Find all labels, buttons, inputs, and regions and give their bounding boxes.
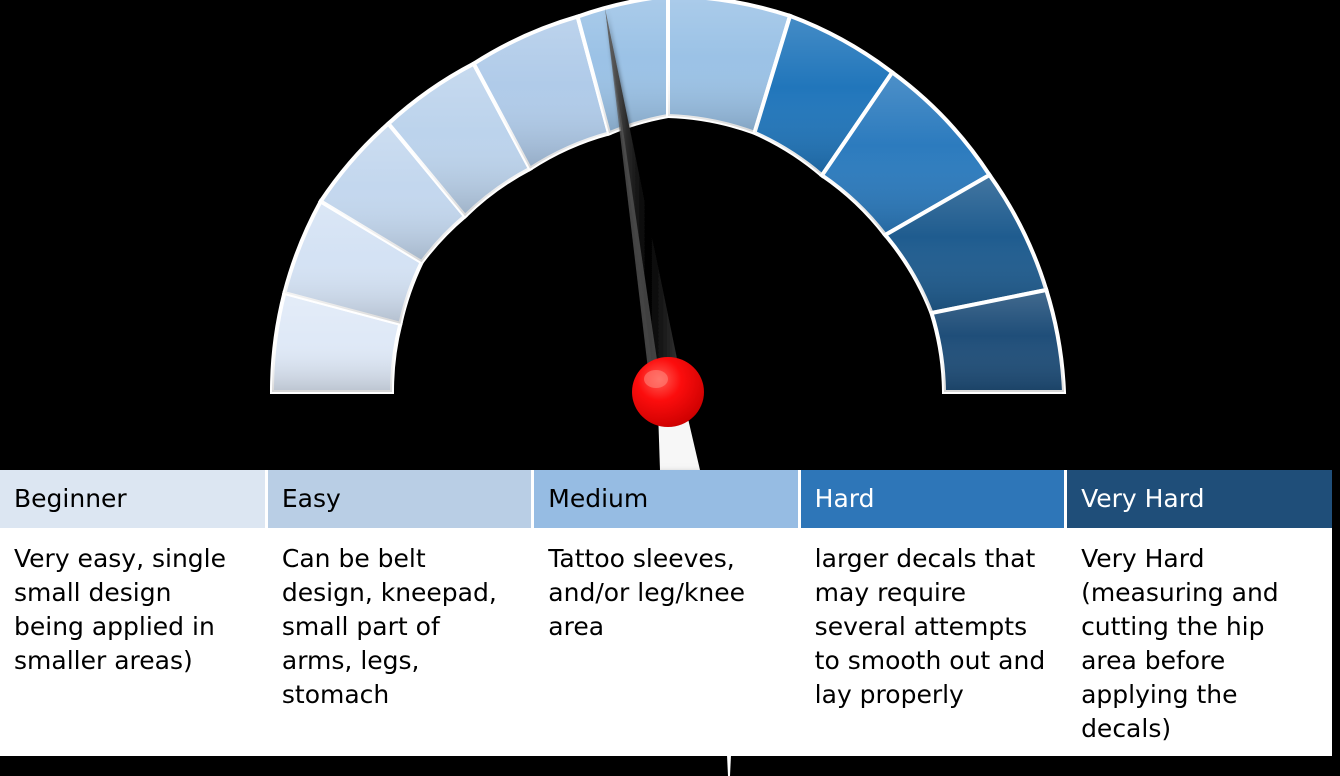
- table-header-very-hard[interactable]: Very Hard: [1066, 470, 1332, 528]
- slide-canvas: Beginner Easy Medium Hard Very Hard Very…: [0, 0, 1340, 776]
- table-header-row: Beginner Easy Medium Hard Very Hard: [0, 470, 1332, 528]
- needle-tail-bottom-fragment: [724, 755, 734, 776]
- table-row: Very easy, single small design being app…: [0, 528, 1332, 756]
- table-cell-hard: larger decals that may require several a…: [799, 528, 1065, 756]
- gauge-hub: [632, 357, 704, 427]
- table-header-easy[interactable]: Easy: [266, 470, 532, 528]
- table-cell-easy: Can be belt design, kneepad, small part …: [266, 528, 532, 756]
- gauge-graphic: [0, 0, 1340, 470]
- difficulty-levels-table: Beginner Easy Medium Hard Very Hard Very…: [0, 470, 1332, 756]
- table-header-medium[interactable]: Medium: [533, 470, 799, 528]
- table-header-hard[interactable]: Hard: [799, 470, 1065, 528]
- table-cell-medium: Tattoo sleeves, and/or leg/knee area: [533, 528, 799, 756]
- gauge-svg: [0, 0, 1340, 470]
- table-cell-very-hard: Very Hard (measuring and cutting the hip…: [1066, 528, 1332, 756]
- table-cell-beginner: Very easy, single small design being app…: [0, 528, 266, 756]
- table-header-beginner[interactable]: Beginner: [0, 470, 266, 528]
